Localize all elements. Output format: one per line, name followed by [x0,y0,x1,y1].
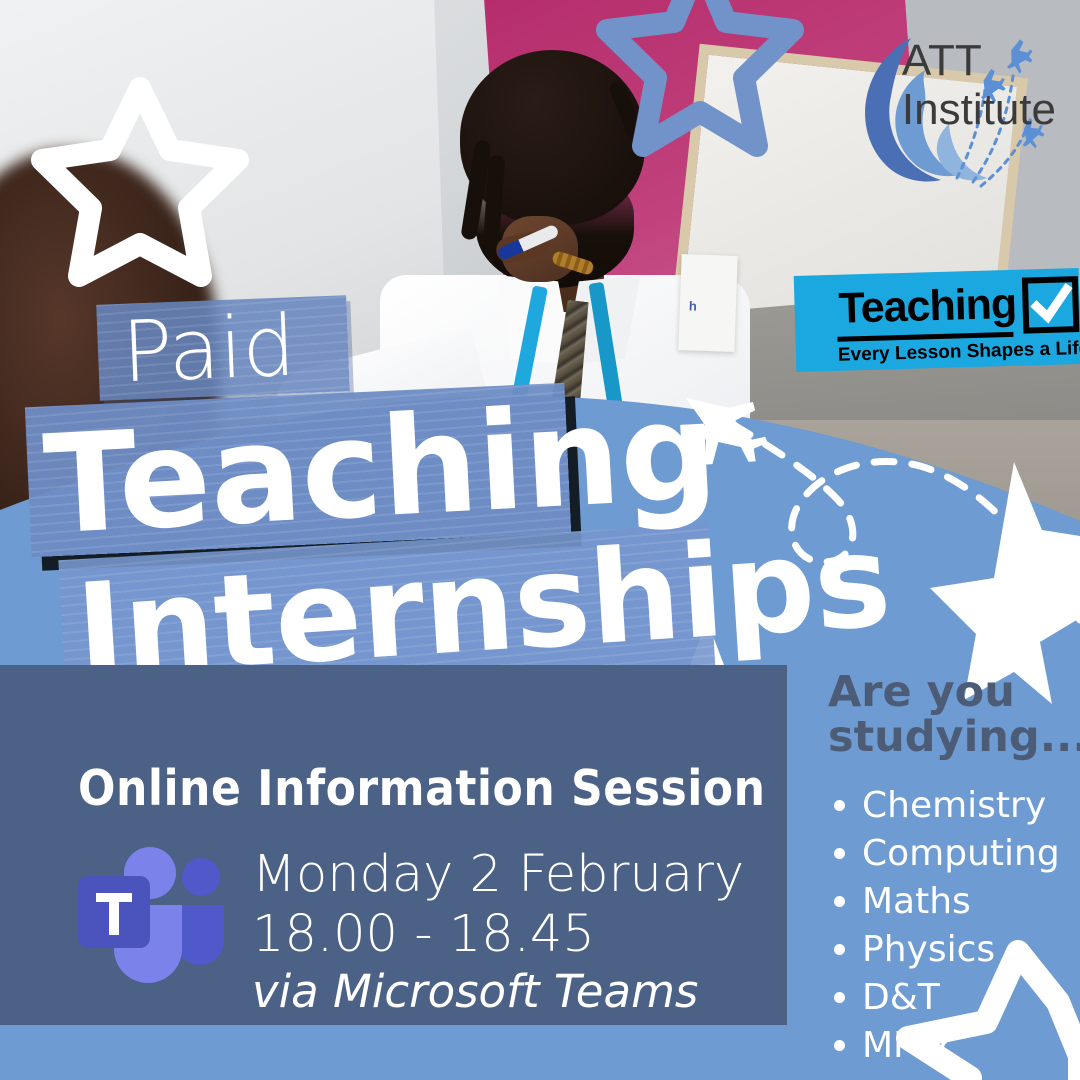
subject-item: Physics [828,926,1078,974]
session-platform: via Microsoft Teams [252,965,744,1018]
teaching-badge-word: Teaching [838,280,1017,334]
session-title: Online Information Session [78,760,765,817]
att-logo-text: ATT Institute [902,36,1056,135]
poster-canvas: Mode n - = ? h [0,0,1080,1080]
checkbox-icon [1022,276,1080,334]
check-icon [1026,280,1075,329]
session-date: Monday 2 February [252,845,744,905]
subject-item: MFL? [828,1022,1078,1070]
subjects-group: Are you studying... Chemistry Computing … [828,670,1078,1070]
headline-group: Paid Teaching Internships [0,280,760,700]
subjects-list: Chemistry Computing Maths Physics D&T MF… [828,782,1078,1069]
subject-item: D&T [828,974,1078,1022]
subject-item: Computing [828,830,1078,878]
microsoft-teams-icon [72,843,232,983]
subject-item: Maths [828,878,1078,926]
subject-item: Chemistry [828,782,1078,830]
session-info-panel: Online Information Session Monday 2 Febr… [0,665,787,1025]
session-details: Monday 2 February 18.00 - 18.45 via Micr… [252,845,744,1018]
att-logo-line2: Institute [902,85,1056,134]
headline-word-paid: Paid [120,297,297,402]
session-time: 18.00 - 18.45 [252,905,744,965]
att-logo-line1: ATT [902,36,1056,85]
teaching-badge-tagline: Every Lesson Shapes a Life [838,338,1080,367]
teaching-badge: Teaching Every Lesson Shapes a Life [794,268,1080,372]
att-institute-logo: ATT Institute [845,28,1070,188]
subjects-question: Are you studying... [828,670,1078,760]
